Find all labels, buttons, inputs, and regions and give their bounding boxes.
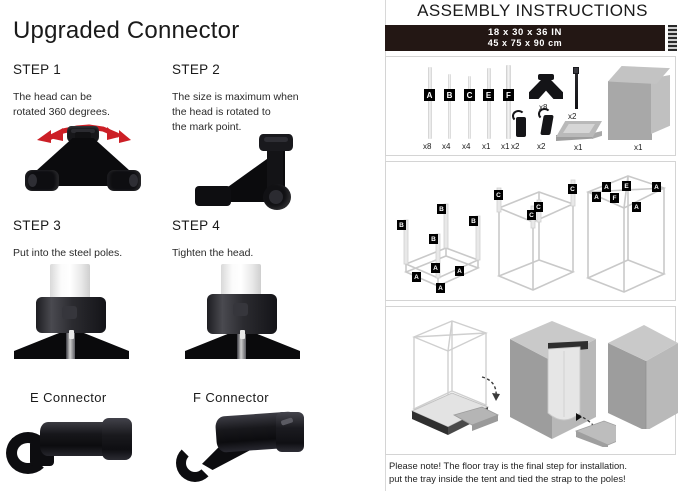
parts-list-section: A x8 B x4 C x4 E x1 F x1 x8 x2 [385,56,676,156]
rod-a-qty: x8 [423,142,431,151]
rod-a [428,67,432,139]
connector-socket-left [25,170,59,191]
connector-socket-front [263,184,291,210]
footer-note: Please note! The floor tray is the final… [389,459,677,485]
dimension-imperial: 18 x 30 x 36 IN [488,27,562,38]
upgraded-connector-panel: Upgraded Connector STEP 1 The head can b… [0,0,386,491]
frame3-label-e: E [622,181,631,191]
frame1-label-b2: B [429,234,438,244]
cover-installed-diagram [504,317,616,447]
step-3-pole-image [14,264,129,359]
frame1-label-b1: B [397,220,406,230]
rod-e-tag: E [483,89,494,101]
step-3-heading: STEP 3 [13,218,61,233]
rod-c [468,76,471,139]
step-1-connector-image [13,122,153,194]
frame-with-tray-diagram [398,315,508,440]
collar-screw [240,330,245,339]
rod-c-qty: x4 [462,142,470,151]
page-title: Upgraded Connector [13,17,239,45]
connector-socket-side [195,186,231,206]
assembly-instructions-panel: ASSEMBLY INSTRUCTIONS 18 x 30 x 36 IN 45… [386,0,679,491]
tent-cover-icon [608,66,670,140]
corner-connector-hub [538,74,554,80]
rod-b-tag: B [444,89,455,101]
frame1-label-a3: A [455,266,464,276]
f-connector-label: F Connector [193,390,269,405]
frame-assembly-section: B B B B A A A A C [385,161,676,301]
f-connector-image [172,408,322,486]
step-2-connector-image [185,132,325,212]
e-connector-label: E Connector [30,390,107,405]
assembly-title: ASSEMBLY INSTRUCTIONS [386,1,679,21]
collar-screw [69,330,74,339]
strap-icon [575,71,578,109]
frame2-label-c1: C [494,190,503,200]
frame-stage-1-diagram [392,168,502,298]
frame3-label-a3: A [652,182,661,192]
f-connector-cap [276,412,304,452]
corner-connector-icon [529,79,563,99]
frame1-label-a2: A [431,263,440,273]
step-1-heading: STEP 1 [13,62,61,77]
connector-collar-tightened [207,294,277,334]
rod-e [487,68,491,139]
step-4-pole-image [185,264,300,359]
connector-collar [36,297,106,333]
connector-head-rotated [259,134,293,151]
frame3-label-a4: A [632,202,641,212]
hook-f-qty: x2 [537,142,545,151]
tent-cover-qty: x1 [634,143,642,152]
banner-edge-artifact [667,25,677,51]
rod-c-tag: C [464,89,475,101]
finished-tent-diagram [604,319,679,429]
frame3-label-a2: A [592,192,601,202]
step-4-heading: STEP 4 [172,218,220,233]
rod-f [506,65,511,139]
frame3-label-f: F [610,193,619,203]
dimension-metric: 45 x 75 x 90 cm [488,38,563,49]
instruction-sheet: Upgraded Connector STEP 1 The head can b… [0,0,679,491]
rod-f-qty: x1 [501,142,509,151]
final-assembly-section [385,306,676,455]
e-connector-cap [102,418,132,460]
connector-socket-right [107,170,141,191]
strap-buckle-icon [573,67,579,74]
frame1-label-a4: A [436,283,445,293]
frame2-label-c3: C [568,184,577,194]
hook-e-icon [512,109,528,137]
floor-tray-icon [556,115,602,141]
f-connector-hook [176,444,214,482]
step-2-heading: STEP 2 [172,62,220,77]
rod-f-tag: F [503,89,514,101]
rod-a-tag: A [424,89,435,101]
step-1-text: The head can be rotated 360 degrees. [13,90,163,120]
rod-e-qty: x1 [482,142,490,151]
frame1-label-b4: B [437,204,446,214]
e-connector-image [2,410,152,482]
hook-e-qty: x2 [511,142,519,151]
frame2-label-c4: C [534,202,543,212]
step-4-text: Tighten the head. [172,246,322,261]
dimension-banner: 18 x 30 x 36 IN 45 x 75 x 90 cm [385,25,665,51]
frame1-label-b3: B [469,216,478,226]
step-2-text: The size is maximum when the head is rot… [172,90,337,135]
frame3-label-a1: A [602,182,611,192]
hook-f-icon [538,107,554,135]
step-3-text: Put into the steel poles. [13,246,163,261]
frame1-label-a1: A [412,272,421,282]
floor-tray-qty: x1 [574,143,582,152]
rod-b-qty: x4 [442,142,450,151]
rod-b [448,74,451,139]
